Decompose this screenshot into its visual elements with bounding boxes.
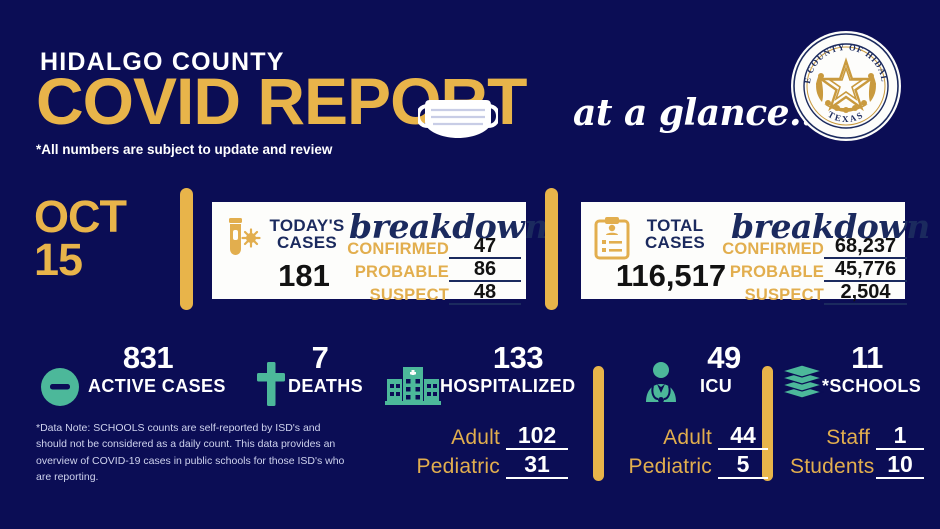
schools-staff-row: Staff 1 xyxy=(790,423,924,450)
tagline: at a glance.. xyxy=(573,92,813,134)
test-tube-virus-icon xyxy=(222,216,264,263)
minus-circle-icon xyxy=(40,367,80,412)
active-cases-label: ACTIVE CASES xyxy=(88,376,226,397)
cross-icon xyxy=(256,362,286,411)
icu-pediatric-row: Pediatric 5 xyxy=(616,452,768,479)
todays-row-probable: PROBABLE 86 xyxy=(337,259,521,282)
row-label: SUSPECT xyxy=(712,286,824,305)
todays-cases-card: TODAY'S CASES 181 breakdown CONFIRMED 47… xyxy=(209,199,529,302)
row-label: CONFIRMED xyxy=(712,240,824,259)
row-value: 48 xyxy=(449,282,521,305)
icu-label: ICU xyxy=(700,376,732,397)
doctor-stethoscope-icon xyxy=(638,360,684,411)
row-value: 86 xyxy=(449,259,521,282)
divider-bar-cards xyxy=(545,188,558,310)
row-label: Pediatric xyxy=(616,455,712,479)
icu-adult-row: Adult 44 xyxy=(616,423,768,450)
row-label: SUSPECT xyxy=(337,286,449,305)
hospitalized-value: 133 xyxy=(438,340,598,376)
face-mask-icon xyxy=(418,88,498,149)
row-value: 68,237 xyxy=(824,236,907,259)
schools-students-row: Students 10 xyxy=(790,452,924,479)
total-cases-card: TOTAL CASES 116,517 breakdown CONFIRMED … xyxy=(578,199,908,302)
hospital-building-icon xyxy=(385,363,441,410)
disclaimer-text: *All numbers are subject to update and r… xyxy=(36,142,332,157)
row-label: PROBABLE xyxy=(337,263,449,282)
row-label: PROBABLE xyxy=(712,263,824,282)
hospitalized-adult-row: Adult 102 xyxy=(404,423,568,450)
schools-label: *SCHOOLS xyxy=(822,376,921,397)
active-cases-value: 831 xyxy=(88,340,208,376)
todays-row-suspect: SUSPECT 48 xyxy=(337,282,521,305)
row-value: 1 xyxy=(876,423,924,450)
todays-row-confirmed: CONFIRMED 47 xyxy=(337,236,521,259)
total-row-suspect: SUSPECT 2,504 xyxy=(712,282,907,305)
row-value: 5 xyxy=(718,452,768,479)
report-header: HIDALGO COUNTY COVID REPORT at a glance.… xyxy=(0,0,940,175)
row-label: Staff xyxy=(790,426,870,450)
icu-value: 49 xyxy=(679,340,769,376)
row-value: 2,504 xyxy=(824,282,907,305)
total-cases-label: TOTAL CASES xyxy=(634,217,716,252)
row-label: Pediatric xyxy=(404,455,500,479)
divider-bar-icu xyxy=(593,366,604,481)
hospitalized-label: HOSPITALIZED xyxy=(440,376,575,397)
schools-value: 11 xyxy=(812,340,922,376)
data-note: *Data Note: SCHOOLS counts are self-repo… xyxy=(36,420,348,485)
total-row-confirmed: CONFIRMED 68,237 xyxy=(712,236,907,259)
hospitalized-pediatric-row: Pediatric 31 xyxy=(404,452,568,479)
row-value: 102 xyxy=(506,423,568,450)
deaths-label: DEATHS xyxy=(288,376,363,397)
row-value: 10 xyxy=(876,452,924,479)
row-value: 45,776 xyxy=(824,259,907,282)
deaths-value: 7 xyxy=(283,340,357,376)
hidalgo-county-seal: THE COUNTY OF HIDALGO TEXAS xyxy=(790,30,902,147)
divider-bar-date xyxy=(180,188,193,310)
date-day: 15 xyxy=(34,239,126,282)
date-month: OCT xyxy=(34,196,126,239)
row-label: CONFIRMED xyxy=(337,240,449,259)
report-date: OCT 15 xyxy=(34,196,126,282)
row-label: Adult xyxy=(404,426,500,450)
row-value: 47 xyxy=(449,236,521,259)
row-label: Students xyxy=(790,455,870,479)
row-value: 44 xyxy=(718,423,768,450)
total-row-probable: PROBABLE 45,776 xyxy=(712,259,907,282)
row-label: Adult xyxy=(616,426,712,450)
row-value: 31 xyxy=(506,452,568,479)
